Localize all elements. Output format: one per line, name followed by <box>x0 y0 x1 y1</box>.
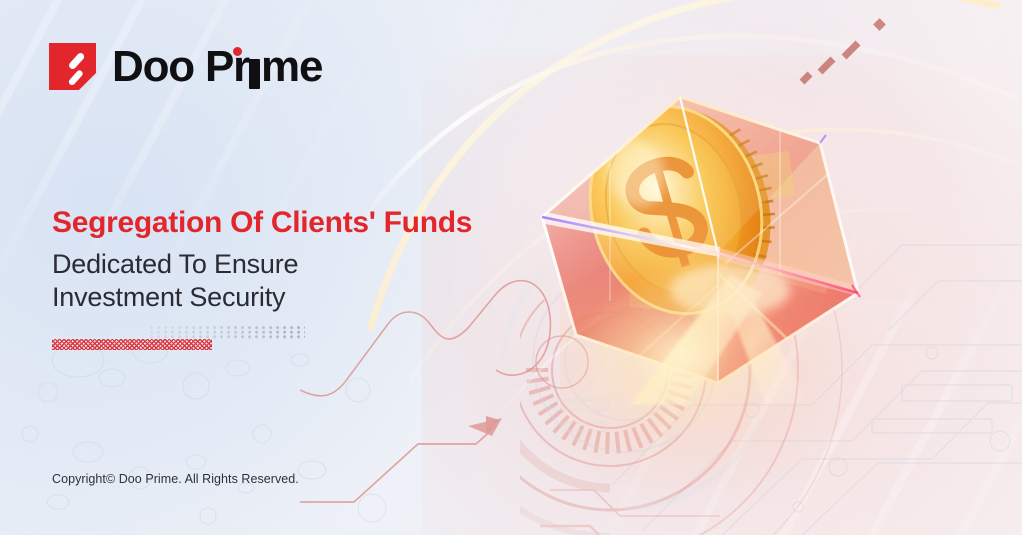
hatched-divider-bar <box>52 339 212 350</box>
hero-subheadline-line-1: Dedicated To Ensure <box>52 248 298 281</box>
background-bubble-texture <box>0 330 420 535</box>
wordmark-i-dot <box>233 47 242 56</box>
wordmark-me: me <box>261 45 322 89</box>
dot-grid-pattern <box>150 326 305 340</box>
hero-headline: Segregation Of Clients' Funds <box>52 206 472 239</box>
wordmark-doo: Doo <box>112 45 194 89</box>
doo-prime-wordmark: DooPrme <box>112 45 322 89</box>
doo-prime-logo-mark <box>49 43 96 90</box>
hero-subheadline-line-2: Investment Security <box>52 281 298 314</box>
wordmark-pr: Pr <box>205 45 249 89</box>
copyright-text: Copyright© Doo Prime. All Rights Reserve… <box>52 472 299 486</box>
hero-subheadline: Dedicated To Ensure Investment Security <box>52 248 298 315</box>
decorative-divider <box>50 326 310 354</box>
doo-prime-logo[interactable]: DooPrme <box>49 43 322 90</box>
glass-cube-with-gold-coin <box>480 35 920 405</box>
doo-prime-banner: DooPrme Segregation Of Clients' Funds De… <box>0 0 1022 535</box>
wordmark-i-stem <box>249 59 260 89</box>
